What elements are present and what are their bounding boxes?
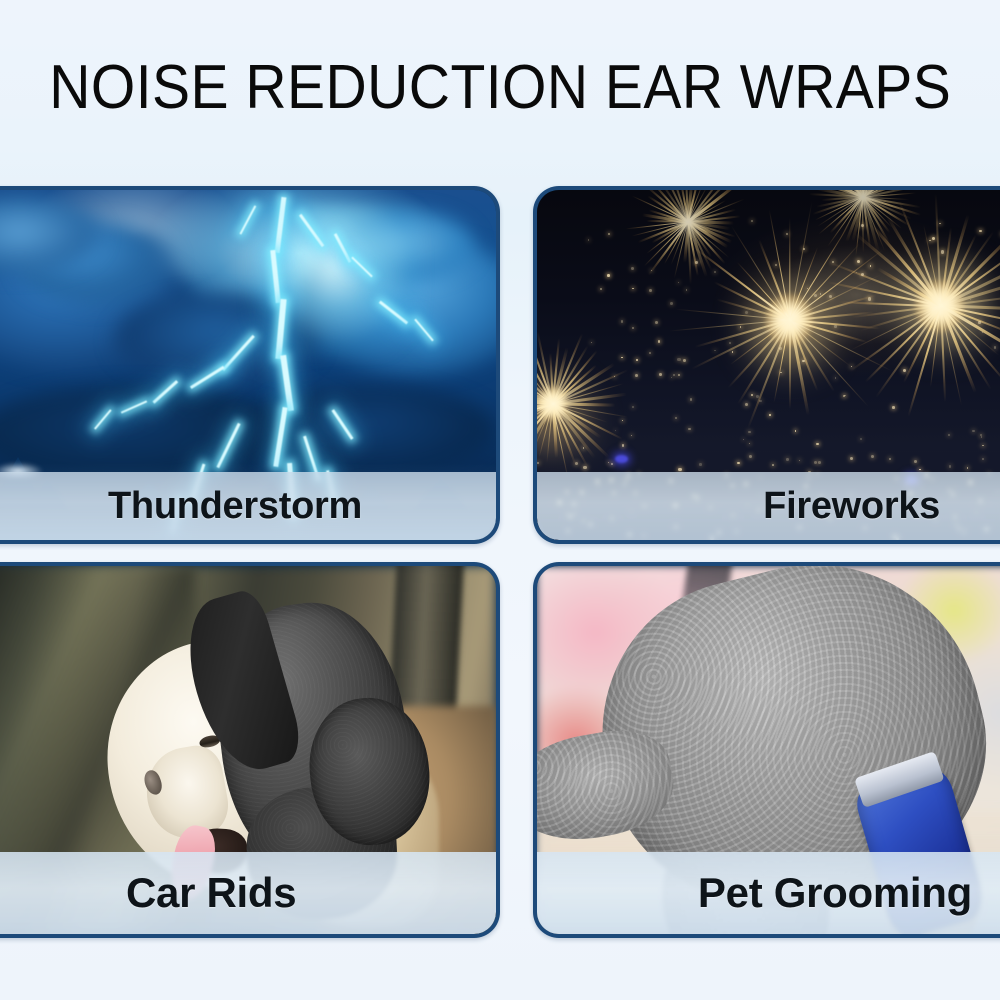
page-title: NOISE REDUCTION EAR WRAPS bbox=[49, 57, 951, 119]
firework-ember bbox=[607, 274, 610, 277]
firework-ember bbox=[695, 261, 698, 264]
firework-ember bbox=[749, 443, 750, 444]
header: NOISE REDUCTION EAR WRAPS bbox=[0, 0, 1000, 175]
city-light bbox=[678, 468, 682, 472]
panel-label-band: Fireworks bbox=[537, 472, 1000, 540]
panel-thunderstorm[interactable]: Thunderstorm bbox=[0, 186, 500, 544]
city-light bbox=[914, 460, 917, 463]
panel-pet-grooming[interactable]: Pet Grooming bbox=[533, 562, 1000, 938]
firework-ember bbox=[870, 265, 871, 266]
city-light bbox=[850, 457, 853, 460]
firework-ember bbox=[972, 430, 974, 432]
firework-ember bbox=[688, 428, 691, 431]
firework-ember bbox=[857, 260, 860, 263]
city-light bbox=[575, 462, 579, 466]
firework-ember bbox=[941, 250, 944, 253]
city-light bbox=[583, 466, 586, 469]
firework-ember bbox=[675, 417, 678, 420]
city-light bbox=[608, 462, 609, 463]
firework-ember bbox=[978, 321, 981, 324]
panel-label-fireworks: Fireworks bbox=[537, 485, 1000, 528]
firework-ember bbox=[751, 220, 753, 222]
firework-ember bbox=[615, 430, 616, 431]
firework-ember bbox=[786, 233, 788, 235]
firework-ember bbox=[729, 342, 731, 344]
firework-ember bbox=[816, 443, 818, 445]
panel-label-thunderstorm: Thunderstorm bbox=[0, 485, 362, 528]
city-light bbox=[889, 458, 891, 460]
firework-ember bbox=[632, 288, 634, 290]
firework-ember bbox=[622, 444, 625, 447]
firework-ray bbox=[789, 217, 790, 319]
panel-label-band: Pet Grooming bbox=[537, 852, 1000, 934]
firework-ember bbox=[759, 400, 761, 402]
firework-ember bbox=[892, 406, 895, 409]
panel-label-band: Car Rids bbox=[0, 852, 496, 934]
firework-ember bbox=[600, 288, 602, 290]
city-light bbox=[818, 461, 821, 464]
firework-ember bbox=[939, 223, 940, 224]
city-light bbox=[737, 462, 740, 465]
panel-label-car-rids: Car Rids bbox=[0, 869, 296, 917]
firework-ember bbox=[632, 406, 634, 408]
firework-ember bbox=[769, 414, 771, 416]
city-light bbox=[967, 467, 969, 469]
firework-ember bbox=[677, 358, 680, 361]
firework-ember bbox=[860, 438, 862, 440]
firework-ember bbox=[636, 359, 637, 360]
firework-ember bbox=[779, 347, 782, 350]
firework-ember bbox=[622, 420, 623, 421]
panel-car-rids[interactable]: Car Rids bbox=[0, 562, 500, 938]
firework-ember bbox=[868, 297, 871, 300]
city-light bbox=[749, 455, 752, 458]
panel-label-band: Thunderstorm bbox=[0, 472, 496, 540]
firework-ember bbox=[632, 327, 634, 329]
firework-ember bbox=[745, 311, 748, 314]
firework-ray bbox=[875, 305, 942, 398]
panel-label-pet-grooming: Pet Grooming bbox=[537, 869, 1000, 917]
firework-ember bbox=[671, 377, 672, 378]
firework-ember bbox=[683, 359, 686, 362]
panel-fireworks[interactable]: Fireworks bbox=[533, 186, 1000, 544]
city-light bbox=[772, 464, 774, 466]
city-light bbox=[871, 455, 874, 458]
firework-ember bbox=[834, 325, 836, 327]
city-light bbox=[919, 469, 921, 471]
firework-ember bbox=[979, 230, 981, 232]
blue-firework-dot bbox=[615, 455, 628, 463]
firework-ember bbox=[670, 302, 673, 305]
firework-ember bbox=[802, 360, 804, 362]
firework-ember bbox=[732, 351, 733, 352]
firework-ember bbox=[756, 395, 759, 398]
firework-ember bbox=[649, 352, 651, 354]
firework-ember bbox=[803, 248, 805, 250]
feature-grid: Thunderstorm Fireworks bbox=[0, 186, 1000, 938]
firework-ember bbox=[929, 240, 930, 241]
firework-ember bbox=[740, 326, 742, 328]
city-light bbox=[537, 462, 539, 464]
firework-ember bbox=[751, 394, 753, 396]
firework-ember bbox=[970, 299, 971, 300]
firework-ember bbox=[714, 271, 716, 273]
firework-ember bbox=[658, 340, 661, 343]
firework-ember bbox=[781, 309, 782, 310]
